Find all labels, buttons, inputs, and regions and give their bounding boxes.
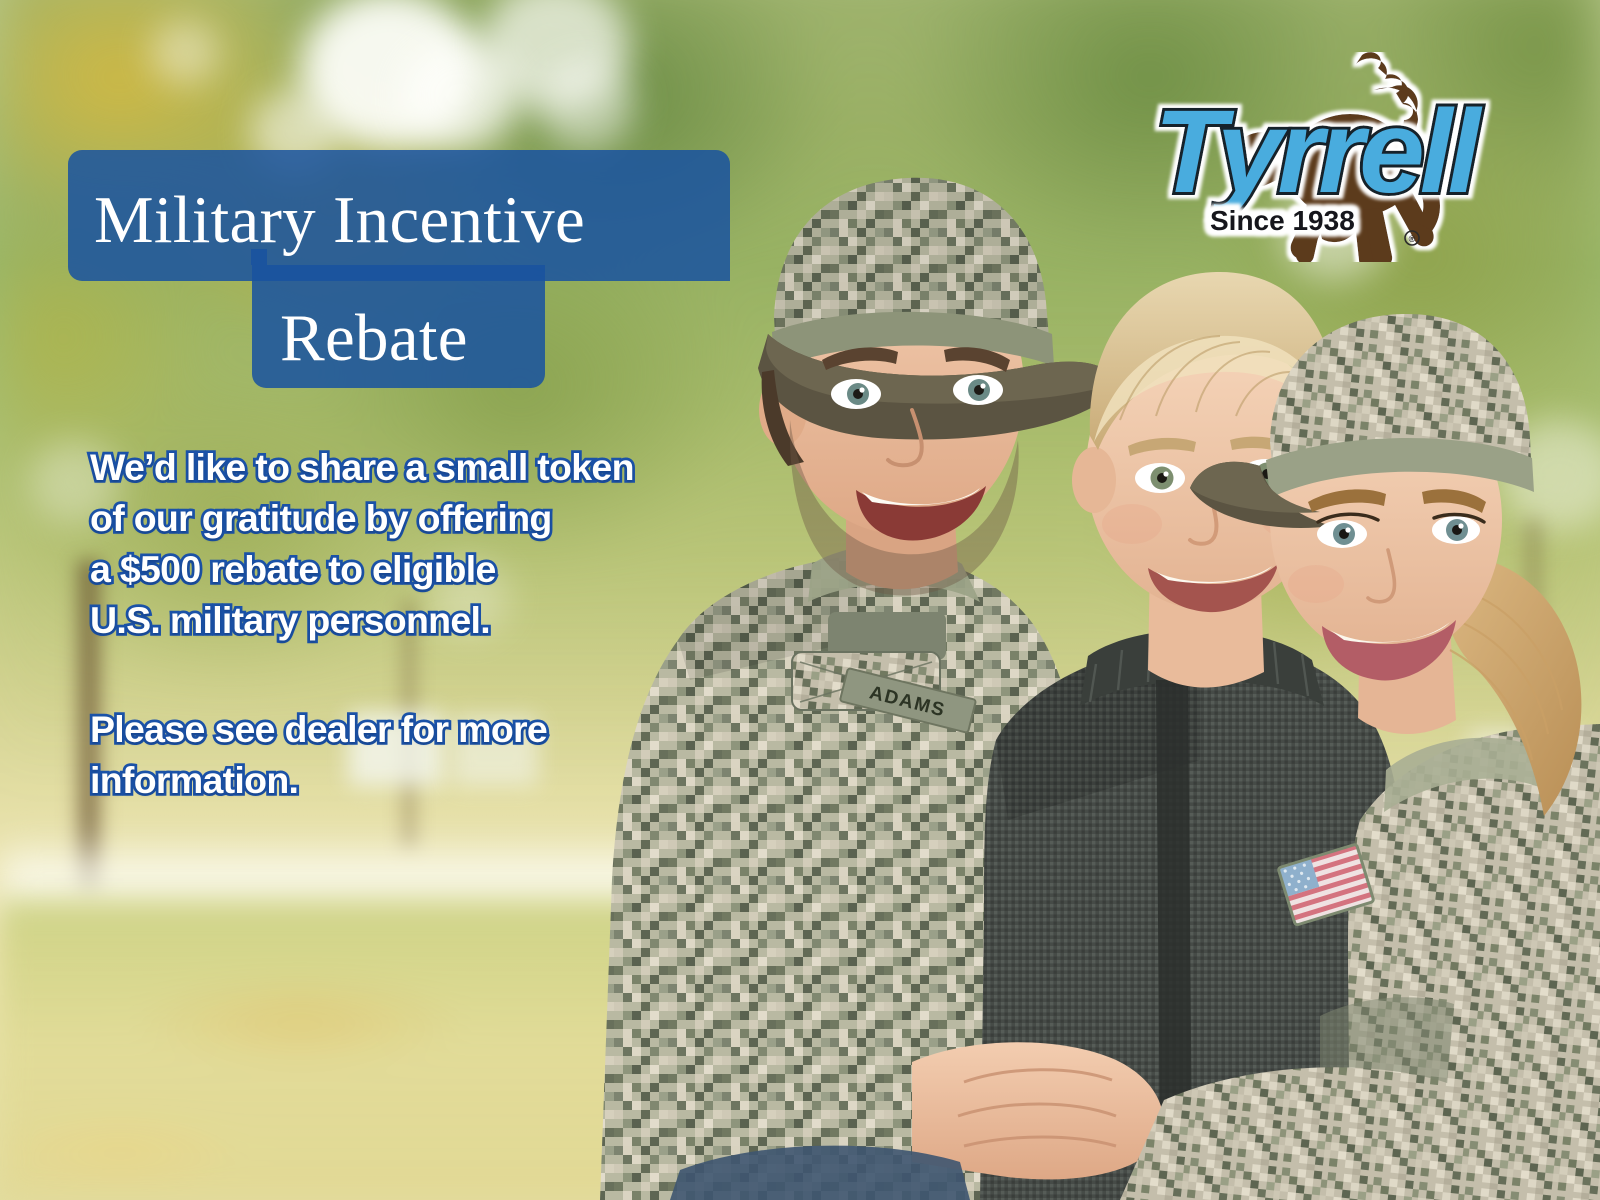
body-line-6: information. <box>90 755 710 806</box>
headline-line1: Military Incentive <box>94 158 585 283</box>
body-paragraph-1: We’d like to share a small token of our … <box>90 442 710 646</box>
tyrrell-wordmark: Tyrrell <box>1154 86 1483 218</box>
body-line-4: U.S. military personnel. <box>90 595 710 646</box>
bokeh-highlight <box>150 20 220 85</box>
body-line-5: Please see dealer for more <box>90 704 710 755</box>
body-line-3: a $500 rebate to eligible <box>90 544 710 595</box>
military-family-photo-subjects: ADAMS <box>560 120 1600 1200</box>
tyrrell-logo[interactable]: Tyrrell Since 1938 ® <box>1150 52 1510 262</box>
svg-text:Since 1938: Since 1938 <box>1210 205 1355 236</box>
body-copy: We’d like to share a small token of our … <box>90 442 710 806</box>
svg-text:®: ® <box>1409 234 1416 244</box>
body-paragraph-2: Please see dealer for more information. <box>90 704 710 806</box>
headline-line2: Rebate <box>280 276 468 401</box>
svg-text:Tyrrell: Tyrrell <box>1154 86 1483 218</box>
paragraph-spacer <box>90 646 710 704</box>
body-line-1: We’d like to share a small token <box>90 442 710 493</box>
tyrrell-tagline: Since 1938 <box>1210 205 1355 236</box>
military-rebate-banner: ADAMS Military Incentive Rebate We’d lik… <box>0 0 1600 1200</box>
body-line-2: of our gratitude by offering <box>90 493 710 544</box>
